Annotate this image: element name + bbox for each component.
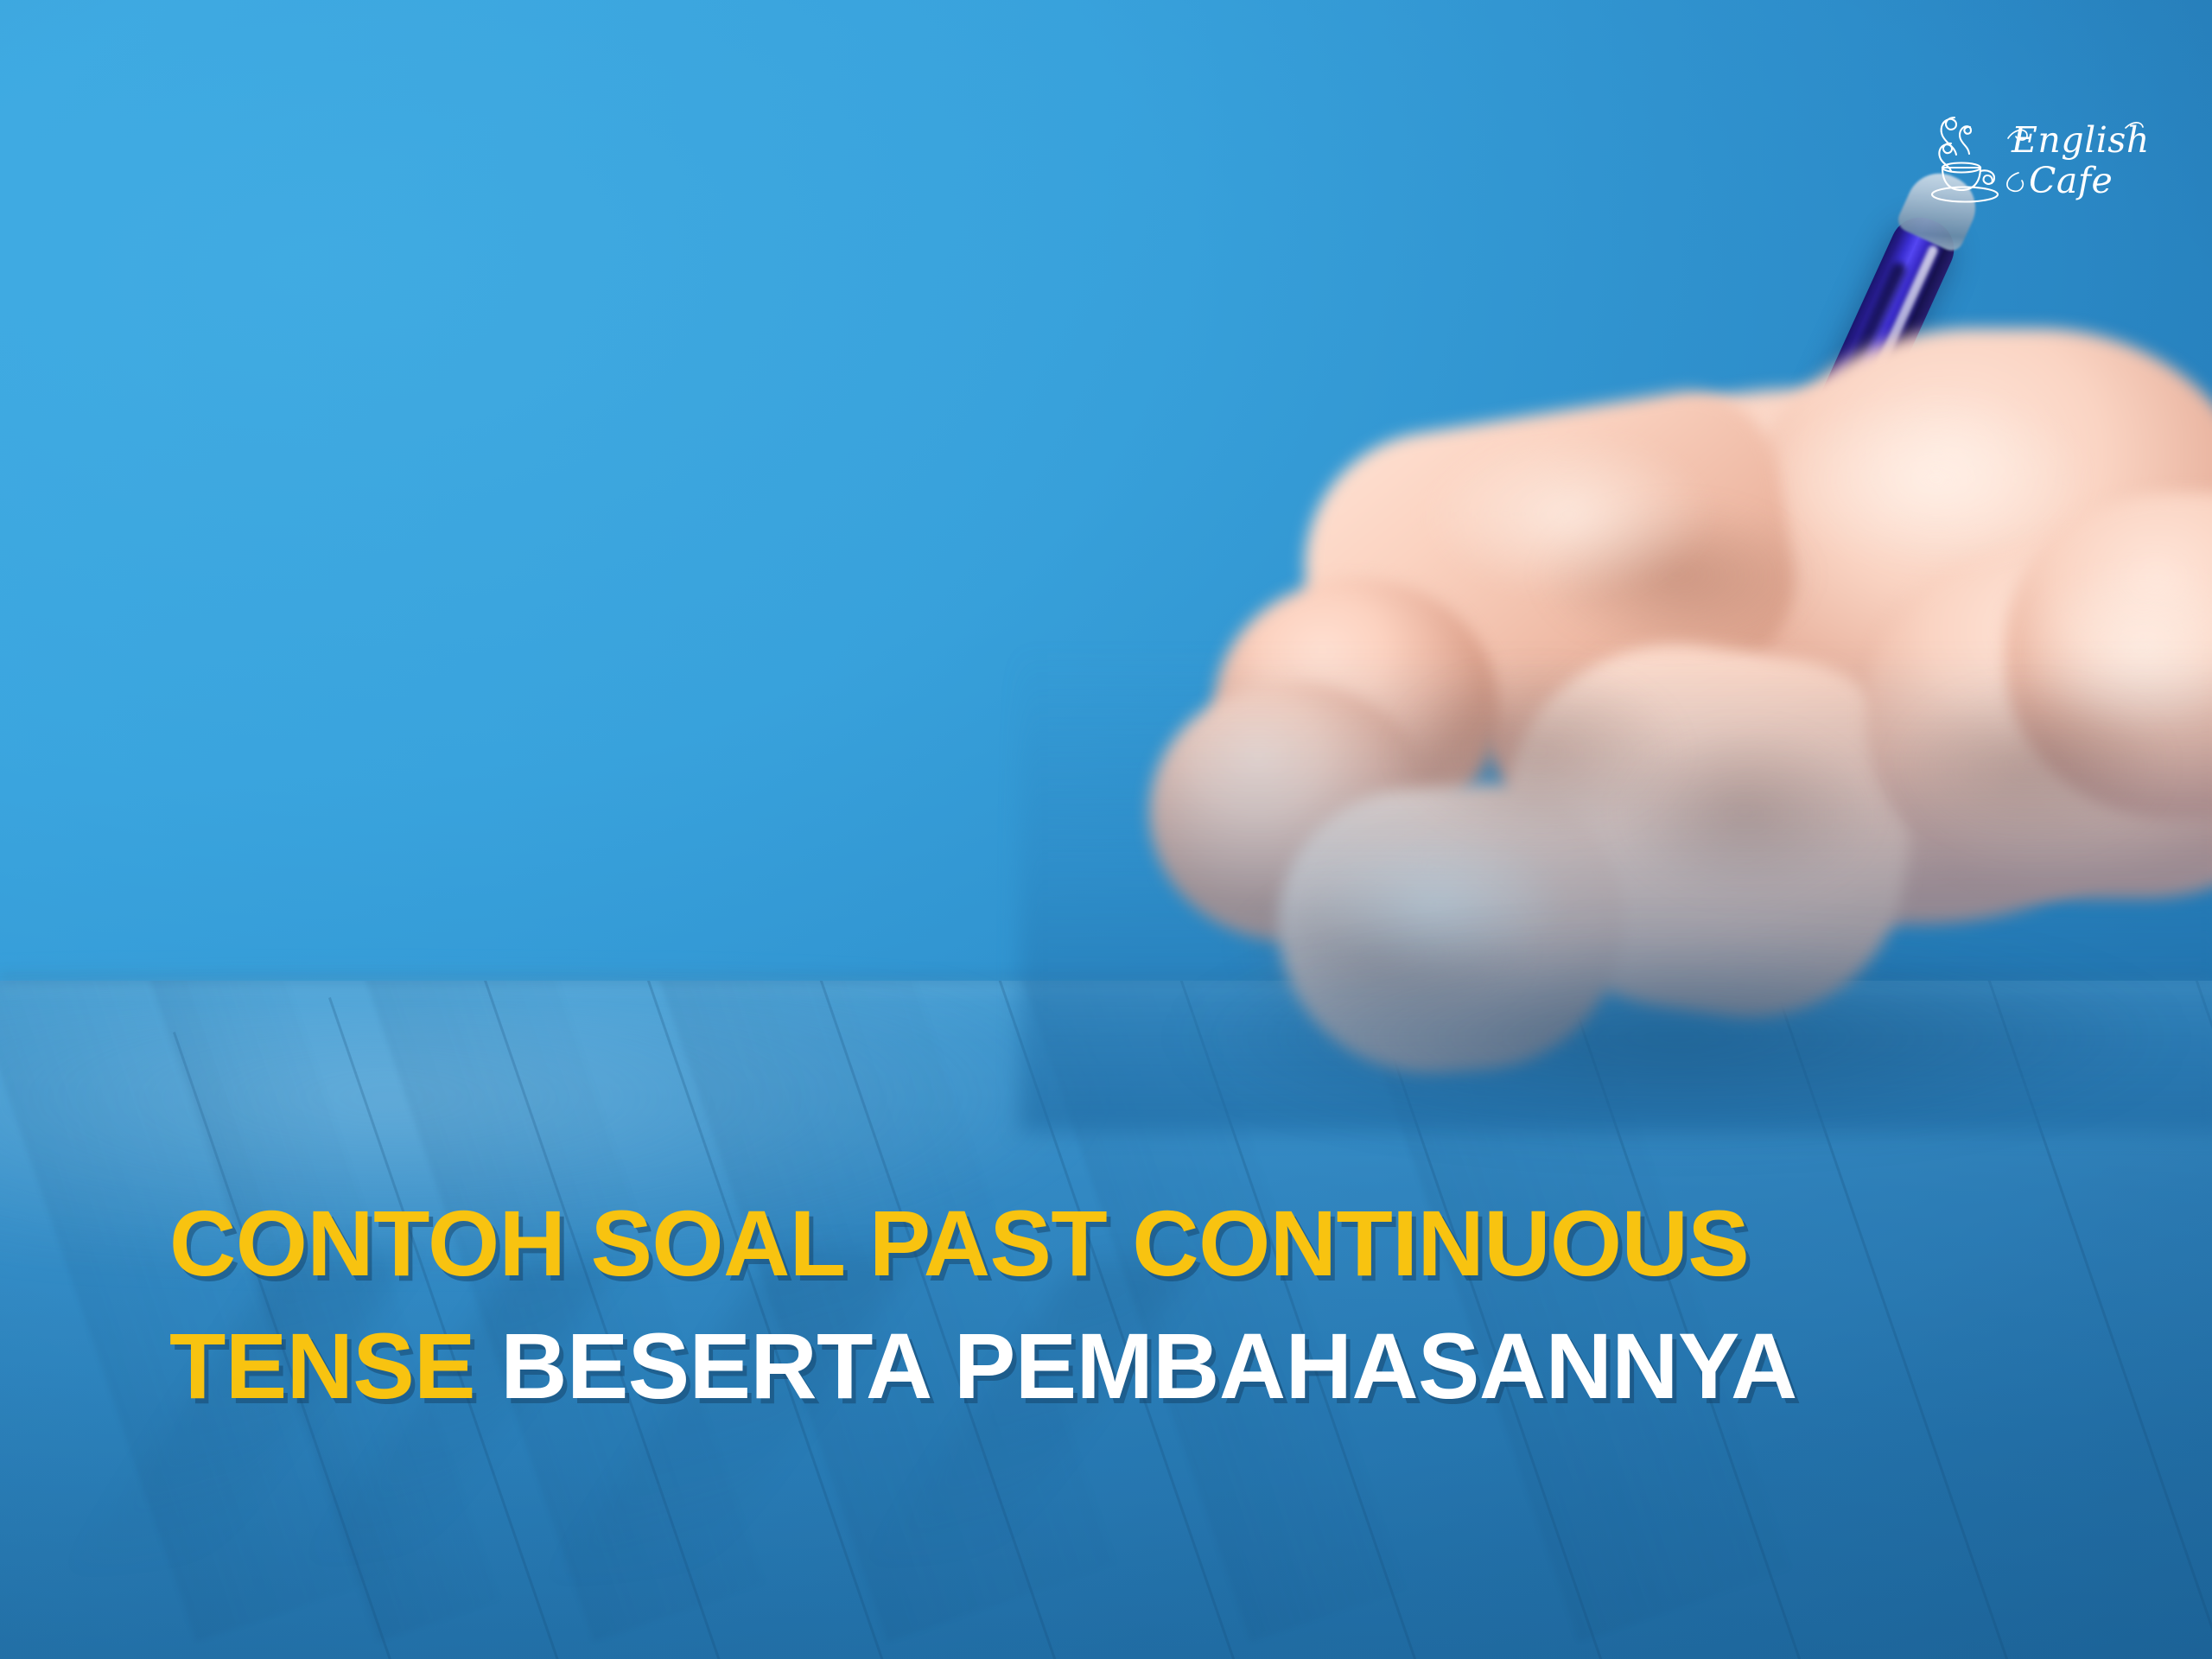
writing-hand-and-pen — [1020, 130, 2212, 1097]
headline-line-1: CONTOH SOAL PAST CONTINUOUS — [169, 1182, 1966, 1305]
headline-line1-text: CONTOH SOAL PAST CONTINUOUS — [169, 1191, 1749, 1295]
headline-rest-text: BESERTA PEMBAHASANNYA — [500, 1313, 1797, 1418]
headline-line-2: TENSE BESERTA PEMBAHASANNYA — [169, 1305, 1966, 1427]
coffee-cup-with-steam-swirls-icon: English Cafe — [1925, 105, 2184, 205]
english-cafe-logo[interactable]: English Cafe — [1925, 105, 2184, 205]
logo-line2: Cafe — [2029, 160, 2113, 201]
cover-image: English Cafe CONTOH SOAL PAST CONTINUOUS… — [0, 0, 2212, 1659]
headline: CONTOH SOAL PAST CONTINUOUS TENSE BESERT… — [169, 1182, 1984, 1427]
hand-drop-shadow — [1175, 933, 2177, 1141]
headline-highlight-text: TENSE — [169, 1313, 475, 1418]
